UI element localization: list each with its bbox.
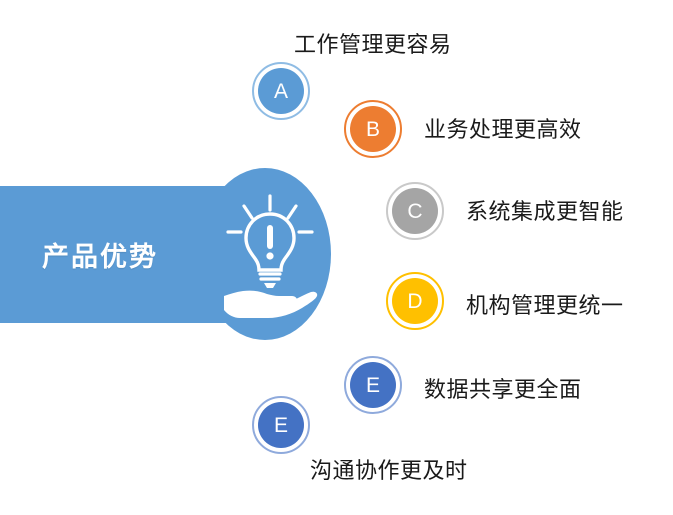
badge-e-5[interactable]: E	[344, 356, 402, 414]
badge-letter: E	[258, 402, 304, 448]
badge-letter: E	[350, 362, 396, 408]
badge-letter: C	[392, 188, 438, 234]
banner-title: 产品优势	[0, 186, 200, 323]
item-label-1: 工作管理更容易	[294, 27, 452, 59]
item-label-6: 沟通协作更及时	[310, 453, 468, 485]
badge-b-2[interactable]: B	[344, 100, 402, 158]
badge-letter: B	[350, 106, 396, 152]
badge-letter: D	[392, 278, 438, 324]
item-label-2: 业务处理更高效	[424, 112, 582, 144]
lightbulb-in-hand-icon	[218, 192, 322, 318]
badge-letter: A	[258, 68, 304, 114]
item-label-3: 系统集成更智能	[466, 194, 624, 226]
item-label-5: 数据共享更全面	[424, 372, 582, 404]
badge-d-4[interactable]: D	[386, 272, 444, 330]
item-label-4: 机构管理更统一	[466, 288, 624, 320]
product-advantage-banner: 产品优势	[0, 160, 340, 350]
badge-e-6[interactable]: E	[252, 396, 310, 454]
badge-c-3[interactable]: C	[386, 182, 444, 240]
badge-a-1[interactable]: A	[252, 62, 310, 120]
diagram-canvas: 产品优势	[0, 0, 673, 515]
